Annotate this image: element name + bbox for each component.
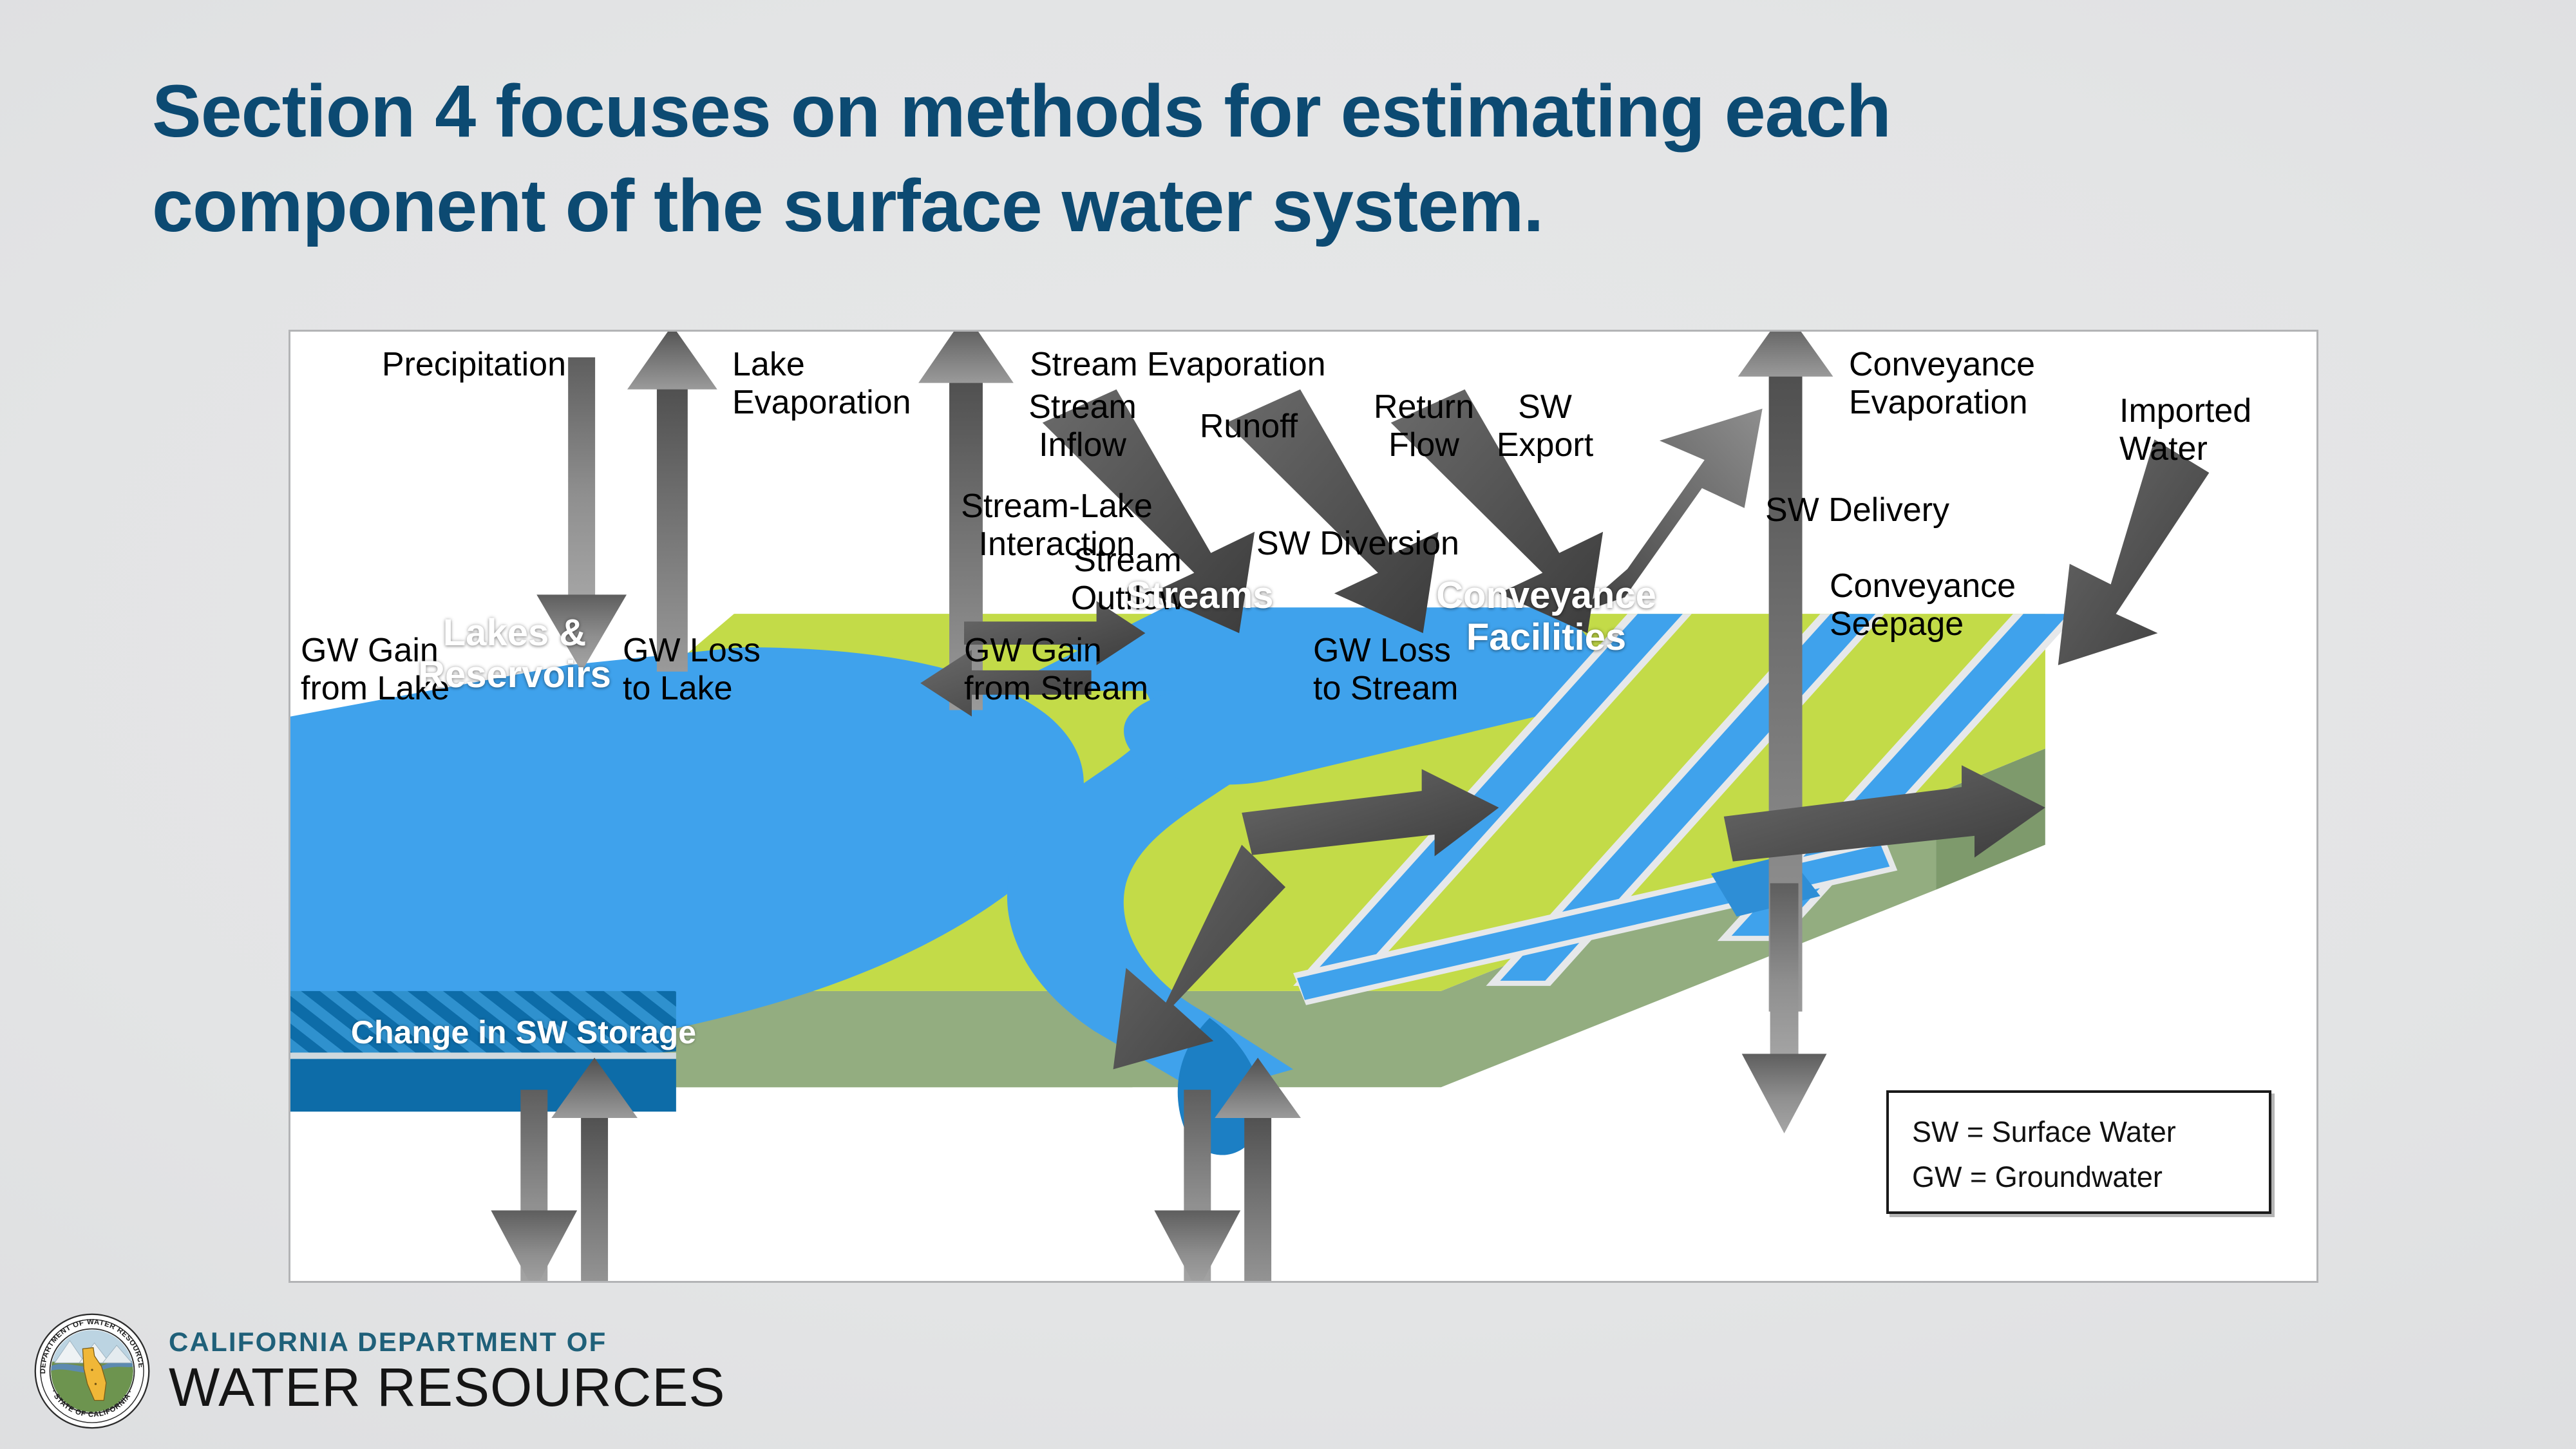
label-stream-inflow: Stream Inflow [1028,388,1137,465]
label-stream-evaporation: Stream Evaporation [1030,346,1326,384]
gw-gain-from-lake-arrow [491,1090,577,1281]
surface-water-system-diagram: Precipitation Lake Evaporation Stream Ev… [289,330,2318,1283]
page-title-line-1: Section 4 focuses on methods for estimat… [152,64,2470,159]
label-return-flow: Return Flow [1374,388,1474,465]
label-runoff: Runoff [1200,408,1298,446]
label-sw-export: SW Export [1497,388,1593,465]
label-change-in-sw-storage: Change in SW Storage [351,1014,696,1050]
label-lakes-and-reservoirs: Lakes & Reservoirs [418,612,611,696]
label-streams: Streams [1126,575,1274,617]
lake-evaporation-arrow [627,332,717,672]
label-sw-delivery: SW Delivery [1765,491,1949,529]
label-conveyance-facilities: Conveyance Facilities [1436,575,1656,659]
california-dwr-seal-icon: DEPARTMENT OF WATER RESOURCES · STATE OF… [33,1312,151,1430]
label-gw-gain-from-stream: GW Gain from Stream [964,632,1148,708]
legend: SW = Surface Water GW = Groundwater [1886,1090,2271,1214]
logo-wordmark: CALIFORNIA DEPARTMENT OF WATER RESOURCES [169,1327,725,1416]
label-imported-water: Imported Water [2119,392,2251,469]
page-title-line-2: component of the surface water system. [152,159,2470,254]
logo-org-line-1: CALIFORNIA DEPARTMENT OF [169,1327,725,1358]
legend-row-gw: GW = Groundwater [1912,1155,2269,1200]
imported-water-arrow [2058,439,2210,665]
label-sw-diversion: SW Diversion [1256,525,1459,563]
label-conveyance-seepage: Conveyance Seepage [1830,567,2016,644]
label-gw-loss-to-lake: GW Loss to Lake [623,632,761,708]
label-lake-evaporation: Lake Evaporation [732,346,911,422]
dwr-logo: DEPARTMENT OF WATER RESOURCES · STATE OF… [33,1312,725,1430]
label-precipitation: Precipitation [382,346,566,384]
label-conveyance-evaporation: Conveyance Evaporation [1849,346,2035,422]
logo-org-line-2: WATER RESOURCES [169,1359,725,1416]
legend-row-sw: SW = Surface Water [1912,1110,2269,1155]
page-title: Section 4 focuses on methods for estimat… [152,64,2470,254]
